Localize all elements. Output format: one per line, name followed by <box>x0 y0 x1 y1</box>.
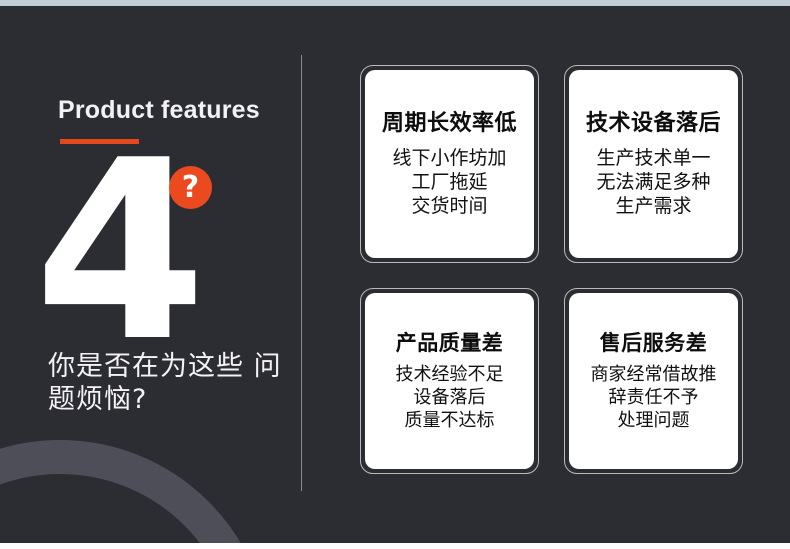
feature-card-1-title: 周期长效率低 <box>382 111 517 137</box>
promo-banner: Product features 4 ? 你是否在为这些 问题烦恼? 周期长效率… <box>0 0 790 549</box>
vertical-divider <box>301 55 302 491</box>
feature-card-1-inner: 周期长效率低 线下小作坊加 工厂拖延 交货时间 <box>365 70 534 258</box>
big-number-four: 4 <box>34 128 201 376</box>
feature-card-4[interactable]: 售后服务差 商家经常借故推 辞责任不予 处理问题 <box>564 288 743 474</box>
panel-subtitle: 你是否在为这些 问题烦恼? <box>48 350 288 416</box>
bottom-edge-strip <box>0 543 790 549</box>
feature-card-2[interactable]: 技术设备落后 生产技术单一 无法满足多种 生产需求 <box>564 65 743 263</box>
feature-card-4-body: 商家经常借故推 辞责任不予 处理问题 <box>591 363 717 432</box>
feature-card-grid: 周期长效率低 线下小作坊加 工厂拖延 交货时间 技术设备落后 生产技术单一 无法… <box>360 65 743 474</box>
feature-card-1-body: 线下小作坊加 工厂拖延 交货时间 <box>392 146 506 218</box>
feature-card-2-body: 生产技术单一 无法满足多种 生产需求 <box>596 146 710 218</box>
feature-card-4-inner: 售后服务差 商家经常借故推 辞责任不予 处理问题 <box>569 293 738 469</box>
feature-card-3-title: 产品质量差 <box>396 330 504 356</box>
feature-card-2-title: 技术设备落后 <box>586 111 721 137</box>
left-panel: Product features 4 ? 你是否在为这些 问题烦恼? <box>0 0 301 549</box>
feature-card-3-body: 技术经验不足 设备落后 质量不达标 <box>396 363 504 432</box>
feature-card-2-inner: 技术设备落后 生产技术单一 无法满足多种 生产需求 <box>569 70 738 258</box>
feature-card-1[interactable]: 周期长效率低 线下小作坊加 工厂拖延 交货时间 <box>360 65 539 263</box>
feature-card-3-inner: 产品质量差 技术经验不足 设备落后 质量不达标 <box>365 293 534 469</box>
feature-card-4-title: 售后服务差 <box>600 330 708 356</box>
question-mark-icon: ? <box>169 166 212 209</box>
feature-card-3[interactable]: 产品质量差 技术经验不足 设备落后 质量不达标 <box>360 288 539 474</box>
